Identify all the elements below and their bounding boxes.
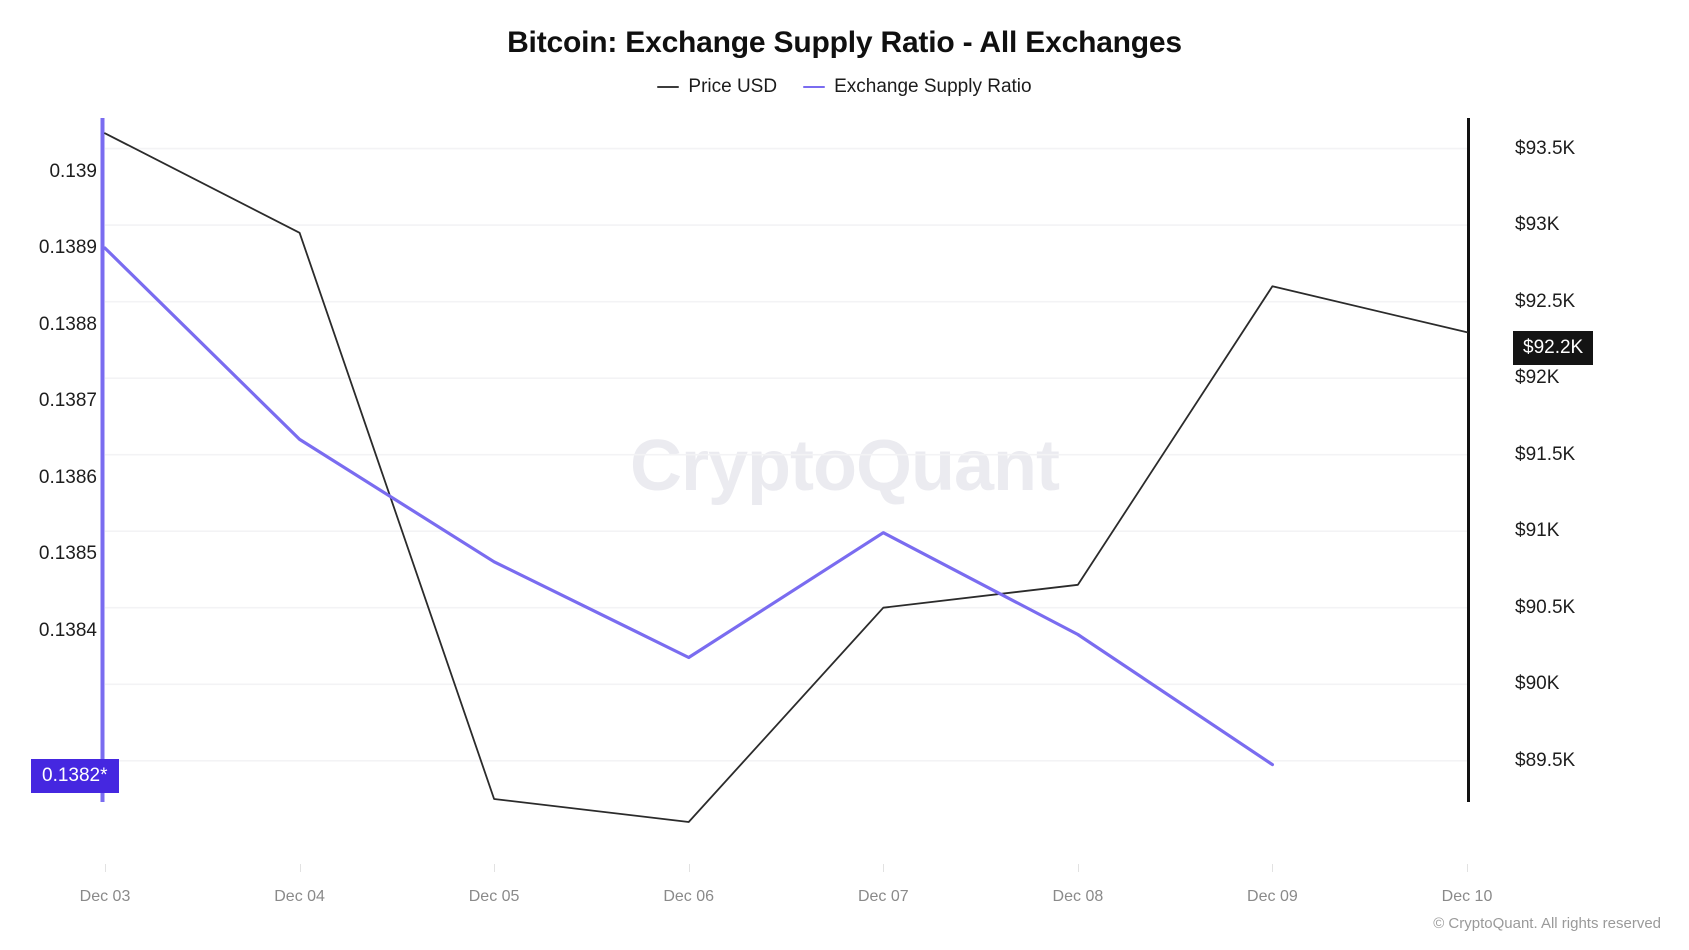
x-axis-tick-mark xyxy=(494,864,495,872)
right-axis-tick-label: $89.5K xyxy=(1515,750,1575,772)
x-axis-tick-label: Dec 09 xyxy=(1247,888,1298,906)
plot-area xyxy=(0,0,1689,950)
right-axis-tick-label: $93K xyxy=(1515,214,1559,236)
right-axis-tick-label: $91K xyxy=(1515,520,1559,542)
right-axis-tick-label: $91.5K xyxy=(1515,444,1575,466)
x-axis-tick-label: Dec 06 xyxy=(663,888,714,906)
x-axis-tick-label: Dec 10 xyxy=(1442,888,1493,906)
x-axis-tick-mark xyxy=(1272,864,1273,872)
left-axis-tick-label: 0.1389 xyxy=(39,237,97,259)
right-axis-tick-label: $92.5K xyxy=(1515,291,1575,313)
left-axis-tick-label: 0.1386 xyxy=(39,467,97,489)
chart-root: Bitcoin: Exchange Supply Ratio - All Exc… xyxy=(0,0,1689,950)
x-axis-tick-mark xyxy=(1078,864,1079,872)
x-axis-tick-label: Dec 05 xyxy=(469,888,520,906)
right-axis-tick-label: $90.5K xyxy=(1515,597,1575,619)
x-axis-tick-label: Dec 04 xyxy=(274,888,325,906)
right-axis-tick-label: $90K xyxy=(1515,673,1559,695)
x-axis-tick-mark xyxy=(883,864,884,872)
x-axis-tick-label: Dec 07 xyxy=(858,888,909,906)
x-axis-tick-label: Dec 03 xyxy=(80,888,131,906)
left-axis-tick-label: 0.1387 xyxy=(39,390,97,412)
left-axis-current-value-badge: 0.1382* xyxy=(31,759,119,793)
series-line-price-usd xyxy=(105,133,1467,822)
x-axis-tick-mark xyxy=(300,864,301,872)
x-axis-tick-mark xyxy=(105,864,106,872)
copyright-footer: © CryptoQuant. All rights reserved xyxy=(1433,915,1661,932)
right-axis-tick-label: $92K xyxy=(1515,367,1559,389)
x-axis-tick-mark xyxy=(689,864,690,872)
left-axis-tick-label: 0.1385 xyxy=(39,543,97,565)
x-axis-tick-mark xyxy=(1467,864,1468,872)
x-axis-tick-label: Dec 08 xyxy=(1053,888,1104,906)
left-axis-tick-label: 0.139 xyxy=(49,161,97,183)
left-axis-tick-label: 0.1388 xyxy=(39,314,97,336)
left-axis-tick-label: 0.1384 xyxy=(39,620,97,642)
right-axis-tick-label: $93.5K xyxy=(1515,138,1575,160)
right-axis-current-value-badge: $92.2K xyxy=(1513,331,1593,365)
series-line-exchange-supply-ratio xyxy=(105,248,1272,765)
gridlines xyxy=(105,149,1468,761)
